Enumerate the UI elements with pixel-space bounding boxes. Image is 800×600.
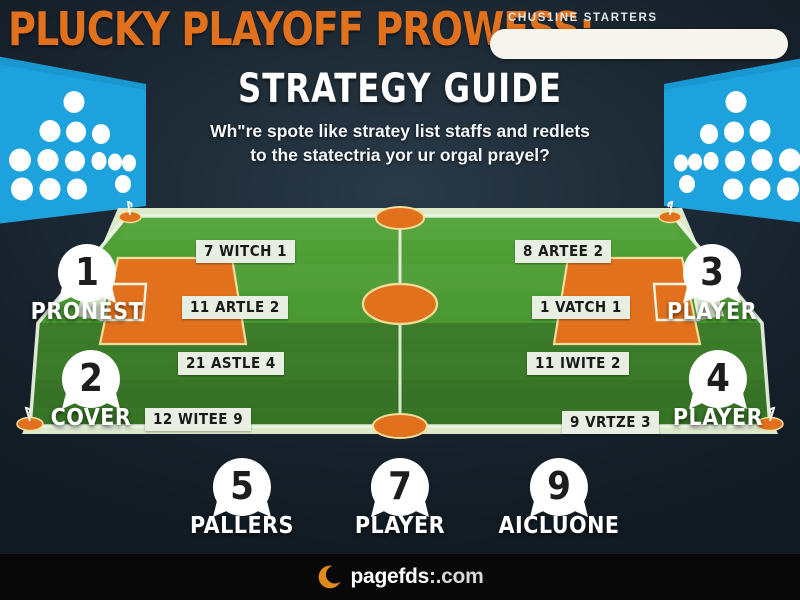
crescent-moon-icon <box>317 564 343 590</box>
footer-brand[interactable]: pagefds:.com <box>351 565 484 589</box>
search-input[interactable] <box>490 29 788 59</box>
page-subhead: STRATEGY GUIDE <box>40 66 760 112</box>
callout-badge[interactable]: 5 PALLERS <box>180 457 304 539</box>
badge-number: 7 <box>369 457 431 515</box>
footer-brand-suffix: :.com <box>429 565 484 588</box>
badge-number: 4 <box>687 349 749 407</box>
player-chip[interactable]: 12 WITEE 9 <box>145 408 251 431</box>
badge-pin-icon: 4 <box>687 349 749 411</box>
badge-pin-icon: 2 <box>60 349 122 411</box>
page-tagline: Wh"re spote like stratey list staffs and… <box>140 120 660 167</box>
callout-badge[interactable]: 7 PLAYER <box>338 457 462 539</box>
callout-badge[interactable]: 2 COVER <box>29 349 153 431</box>
badge-number: 3 <box>681 243 743 301</box>
badge-pin-icon: 1 <box>56 243 118 305</box>
callout-badge[interactable]: 4 PLAYER <box>656 349 780 431</box>
player-chip[interactable]: 8 ARTEE 2 <box>515 240 611 263</box>
badge-pin-icon: 5 <box>211 457 273 519</box>
badge-number: 9 <box>528 457 590 515</box>
player-chip[interactable]: 11 IWITE 2 <box>527 352 629 375</box>
badge-pin-icon: 9 <box>528 457 590 519</box>
badge-number: 5 <box>211 457 273 515</box>
footer-bar: pagefds:.com <box>0 554 800 600</box>
callout-badge[interactable]: 3 PLAYER <box>650 243 774 325</box>
callout-badge[interactable]: 1 PRONEST <box>25 243 149 325</box>
player-chip[interactable]: 9 VRTZE 3 <box>562 411 659 434</box>
starters-search-widget: CHUS1INE STARTERS <box>490 12 788 59</box>
badge-pin-icon: 3 <box>681 243 743 305</box>
tagline-line-2: to the statectria yor ur orgal prayel? <box>250 145 550 165</box>
search-label: CHUS1INE STARTERS <box>490 12 788 24</box>
player-chip[interactable]: 21 ASTLE 4 <box>178 352 284 375</box>
player-chip[interactable]: 1 VATCH 1 <box>532 296 630 319</box>
footer-brand-name: pagefds <box>351 565 429 588</box>
badge-number: 2 <box>60 349 122 407</box>
callout-badge[interactable]: 9 AICLUONE <box>497 457 621 539</box>
player-chip[interactable]: 7 WITCH 1 <box>196 240 295 263</box>
infographic-poster: PLUCKY PLAYOFF PROWESS: STRATEGY GUIDE W… <box>0 0 800 600</box>
badge-number: 1 <box>56 243 118 301</box>
badge-pin-icon: 7 <box>369 457 431 519</box>
tagline-line-1: Wh"re spote like stratey list staffs and… <box>210 121 590 141</box>
player-chip[interactable]: 11 ARTLE 2 <box>182 296 288 319</box>
